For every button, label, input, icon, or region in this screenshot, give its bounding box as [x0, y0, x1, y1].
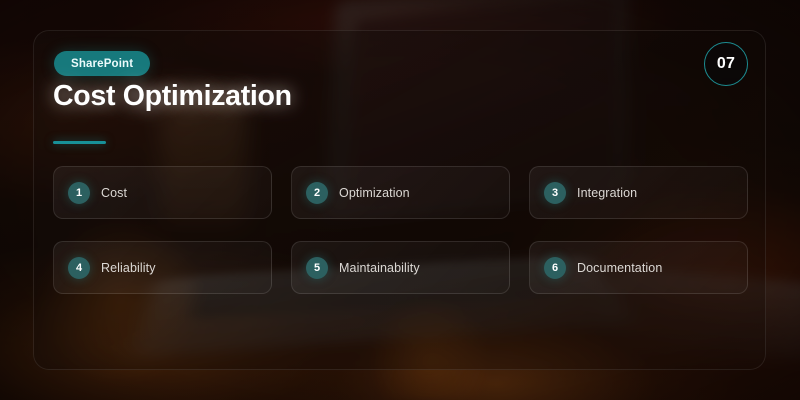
topic-card-6[interactable]: 6 Documentation: [529, 241, 748, 294]
topic-card-number: 1: [68, 182, 90, 204]
topic-card-3[interactable]: 3 Integration: [529, 166, 748, 219]
slide-title: Cost Optimization: [53, 80, 292, 113]
slide-number-badge: 07: [704, 42, 748, 86]
topic-card-number: 2: [306, 182, 328, 204]
topic-card-4[interactable]: 4 Reliability: [53, 241, 272, 294]
presentation-slide: SharePoint Cost Optimization 07 1 Cost 2…: [0, 0, 800, 400]
topic-card-label: Maintainability: [339, 261, 420, 275]
category-badge: SharePoint: [54, 51, 150, 76]
topic-card-number: 6: [544, 257, 566, 279]
topic-card-5[interactable]: 5 Maintainability: [291, 241, 510, 294]
topic-card-label: Cost: [101, 186, 127, 200]
accent-divider: [53, 141, 106, 144]
topic-card-label: Optimization: [339, 186, 410, 200]
topic-card-2[interactable]: 2 Optimization: [291, 166, 510, 219]
topic-card-number: 3: [544, 182, 566, 204]
topic-card-number: 5: [306, 257, 328, 279]
content-panel: SharePoint Cost Optimization 07 1 Cost 2…: [33, 30, 766, 370]
topic-card-grid: 1 Cost 2 Optimization 3 Integration 4 Re…: [53, 166, 748, 294]
topic-card-label: Integration: [577, 186, 637, 200]
topic-card-1[interactable]: 1 Cost: [53, 166, 272, 219]
topic-card-label: Documentation: [577, 261, 662, 275]
topic-card-label: Reliability: [101, 261, 156, 275]
topic-card-number: 4: [68, 257, 90, 279]
